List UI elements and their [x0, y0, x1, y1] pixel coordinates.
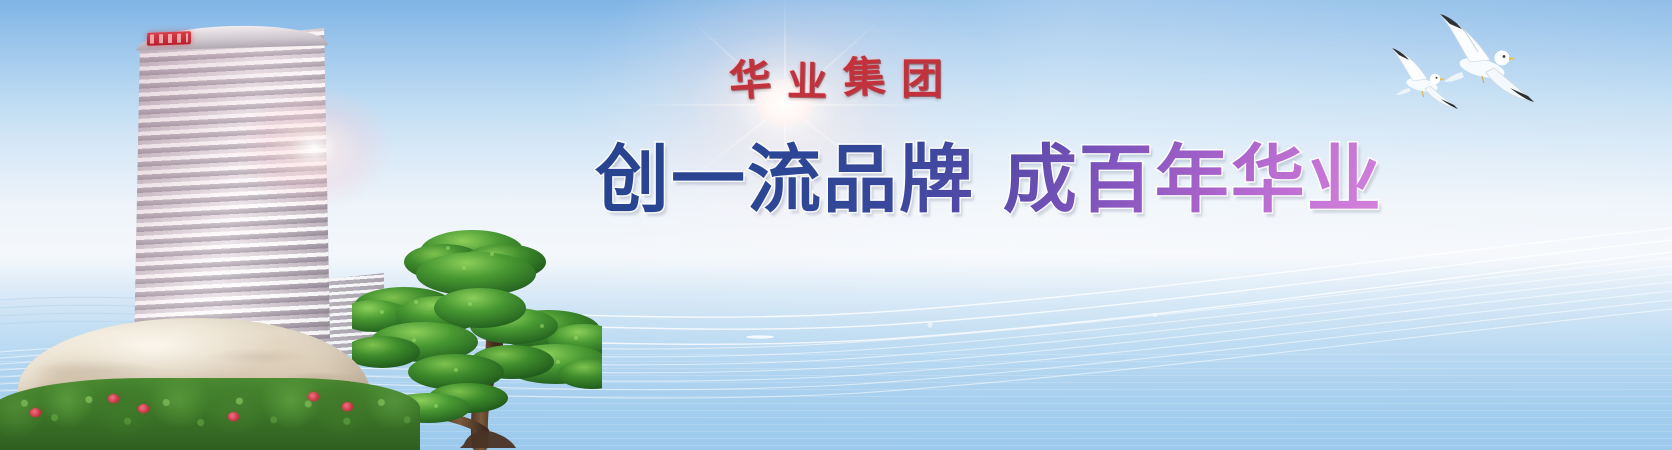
hero-banner: 华 业 集 团	[0, 0, 1672, 450]
green-hedge	[0, 378, 420, 450]
monument-engraving: 华 业 集 团	[729, 54, 944, 100]
seagull-large-icon	[1440, 14, 1534, 102]
red-flower-icon	[308, 392, 319, 401]
engraving-char-2: 业	[787, 62, 828, 105]
red-flower-icon	[30, 408, 41, 417]
tower-facade	[134, 28, 330, 348]
slogan-fill-layer: 创一流品牌 成百年华业	[595, 137, 1383, 223]
office-tower	[118, 18, 358, 348]
rooftop-sign	[147, 31, 191, 46]
engraving-char-1: 华	[728, 58, 773, 103]
rooftop-sign-glyphs	[150, 33, 188, 43]
tower-reflection-tint	[134, 28, 330, 348]
slogan-text: 创一流品牌 成百年华业 创一流品牌 成百年华业 创一流品牌 成百年华业	[595, 128, 1355, 232]
hedge-leaf-texture	[0, 378, 420, 450]
red-flower-icon	[342, 402, 353, 411]
red-flower-icon	[138, 404, 149, 413]
red-flower-icon	[108, 394, 119, 403]
engraving-char-3: 集	[842, 55, 886, 99]
seagull-group	[1378, 2, 1558, 112]
engraving-char-4: 团	[901, 58, 943, 100]
red-flower-icon	[228, 412, 239, 421]
